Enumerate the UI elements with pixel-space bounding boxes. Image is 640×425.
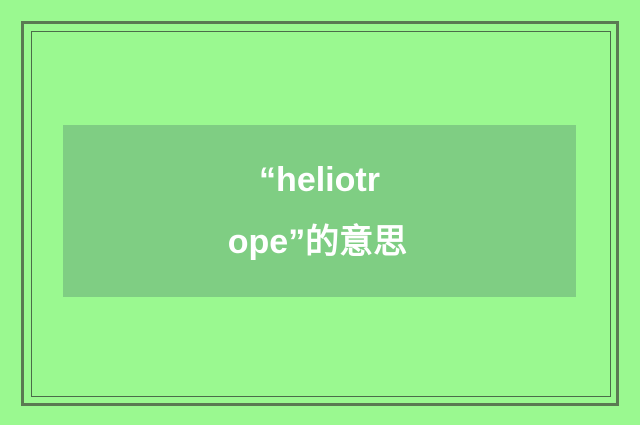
title-text-line-1: “heliotr: [259, 149, 380, 211]
title-text-line-2: ope”的意思: [228, 211, 407, 273]
title-panel: “heliotr ope”的意思: [63, 125, 576, 297]
poster-canvas: “heliotr ope”的意思: [0, 0, 640, 425]
